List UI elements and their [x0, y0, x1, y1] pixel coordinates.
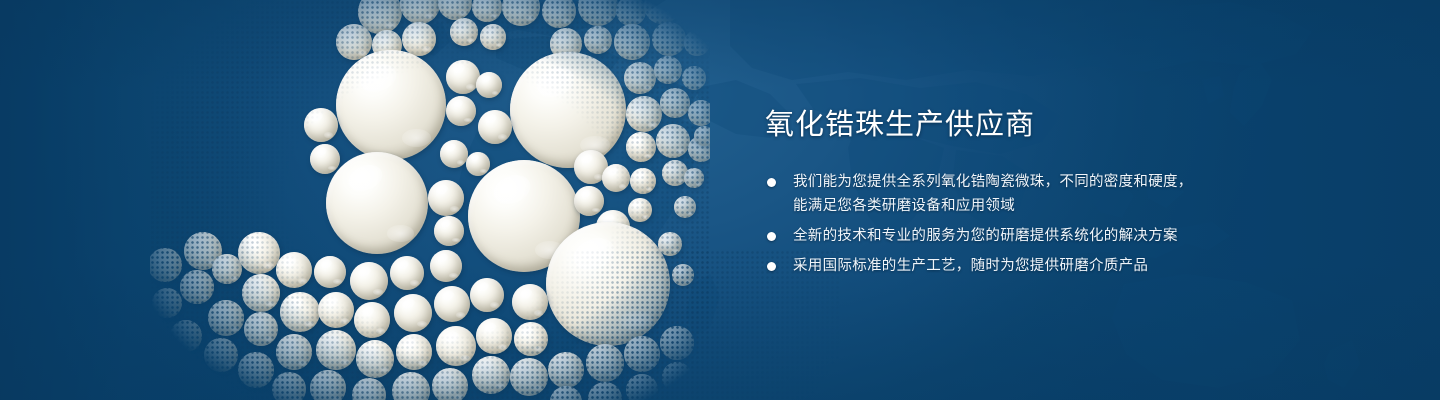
- list-item: 我们能为您提供全系列氧化锆陶瓷微珠，不同的密度和硬度， 能满足您各类研磨设备和应…: [765, 170, 1385, 218]
- bullet-line: 能满足您各类研磨设备和应用领域: [793, 194, 1385, 218]
- bullet-line: 采用国际标准的生产工艺，随时为您提供研磨介质产品: [793, 254, 1385, 278]
- list-item: 全新的技术和专业的服务为您的研磨提供系统化的解决方案: [765, 224, 1385, 248]
- bullet-line: 全新的技术和专业的服务为您的研磨提供系统化的解决方案: [793, 224, 1385, 248]
- bullet-line: 我们能为您提供全系列氧化锆陶瓷微珠，不同的密度和硬度，: [793, 170, 1385, 194]
- banner-headline: 氧化锆珠生产供应商: [765, 106, 1385, 144]
- zirconia-beads-photo: [150, 0, 710, 400]
- banner-feature-list: 我们能为您提供全系列氧化锆陶瓷微珠，不同的密度和硬度， 能满足您各类研磨设备和应…: [765, 170, 1385, 278]
- bullet-dot-icon: [767, 232, 776, 241]
- banner-text-block: 氧化锆珠生产供应商 我们能为您提供全系列氧化锆陶瓷微珠，不同的密度和硬度， 能满…: [765, 106, 1385, 278]
- bullet-dot-icon: [767, 262, 776, 271]
- bullet-dot-icon: [767, 178, 776, 187]
- list-item: 采用国际标准的生产工艺，随时为您提供研磨介质产品: [765, 254, 1385, 278]
- product-hero-banner: 氧化锆珠生产供应商 我们能为您提供全系列氧化锆陶瓷微珠，不同的密度和硬度， 能满…: [0, 0, 1440, 400]
- beads-image-mask: [150, 0, 710, 400]
